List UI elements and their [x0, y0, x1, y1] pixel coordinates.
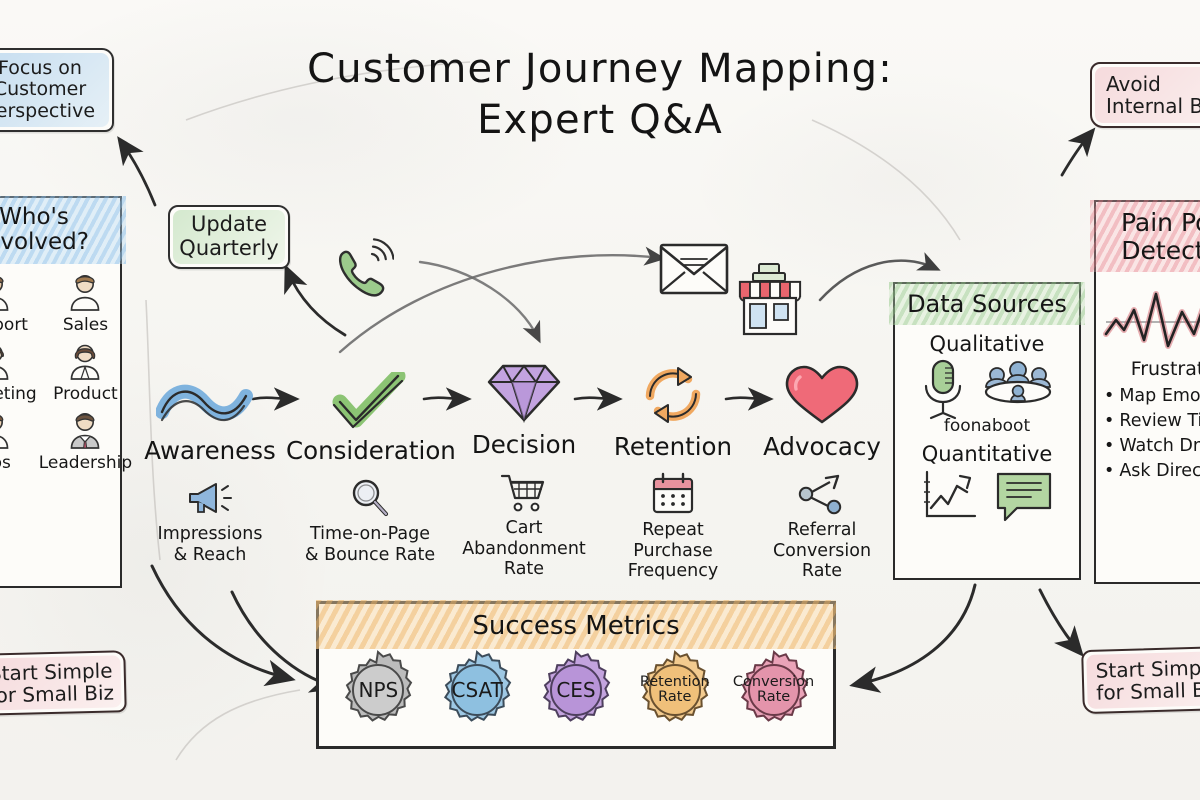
title-line-1: Customer Journey Mapping: — [0, 46, 1200, 93]
note-focus-line-2: Customer — [0, 79, 86, 100]
role-label: Leadership — [39, 453, 132, 473]
person-support-icon — [0, 270, 16, 314]
megaphone-icon — [126, 475, 294, 521]
cart-icon — [440, 469, 608, 515]
success-metrics-title-text: Success Metrics — [472, 611, 679, 641]
journey-stage-decision[interactable]: Decision Cart Abandonment Rate — [440, 362, 608, 580]
note-update-line-1: Update — [191, 213, 267, 237]
pain-point-bullet: Ask Directly — [1104, 459, 1200, 484]
stage-metric: Referral Conversion Rate — [738, 520, 906, 582]
journey-stage-advocacy[interactable]: Advocacy Referral Conversion Rate — [738, 364, 906, 582]
whos-involved-role-grid: Support Sales — [0, 264, 120, 477]
pain-point-bullet-list: Map Emotions Review Tickets Watch Drop-o… — [1096, 384, 1200, 483]
role-item[interactable]: Product — [39, 339, 132, 404]
role-label: Support — [0, 315, 28, 335]
note-update-quarterly[interactable]: Update Quarterly — [168, 205, 290, 269]
frustration-caption: Frustration — [1096, 358, 1200, 380]
role-item[interactable]: Ops — [0, 408, 37, 473]
stage-name: Consideration — [286, 436, 454, 465]
note-start-left-line-2: for Small Biz — [0, 681, 114, 706]
note-avoid-line-2: Internal Bias — [1106, 95, 1200, 117]
stage-metric: Repeat Purchase Frequency — [589, 520, 757, 582]
chat-bubble-icon — [993, 468, 1055, 524]
note-avoid-line-1: Avoid — [1106, 73, 1161, 95]
metric-badge-nps[interactable]: NPS — [337, 649, 419, 731]
data-sources-qualitative-icons — [895, 358, 1079, 420]
pain-point-title: Pain Point Detection — [1096, 202, 1200, 272]
person-product-icon — [63, 339, 107, 383]
whos-involved-title-line-2: Involved? — [0, 230, 116, 255]
journey-stage-awareness[interactable]: Awareness Impressions & Reach — [126, 368, 294, 565]
panel-data-sources[interactable]: Data Sources Qualitative — [893, 282, 1081, 580]
whos-involved-title-line-1: Who's — [0, 205, 116, 230]
note-start-simple-right[interactable]: Start Simple for Small Biz — [1081, 646, 1200, 714]
metric-badge-retention-rate[interactable]: Retention Rate — [634, 649, 716, 731]
calendar-icon — [589, 471, 757, 517]
stage-name: Advocacy — [738, 432, 906, 461]
metric-badge-label: CSAT — [451, 680, 502, 700]
role-label: Ops — [0, 453, 11, 473]
role-item[interactable]: Leadership — [39, 408, 132, 473]
touchpoint-storefront-icon — [732, 262, 808, 338]
stage-metric: Cart Abandonment Rate — [440, 518, 608, 580]
note-start-right-line-2: for Small Biz — [1096, 678, 1200, 704]
note-focus-line-1: Focus on — [0, 58, 82, 79]
role-item[interactable]: Support — [0, 270, 37, 335]
note-focus-line-3: Perspective — [0, 101, 95, 122]
note-focus-on-customer-perspective[interactable]: Focus on Customer Perspective — [0, 48, 114, 132]
success-metrics-badge-row: NPS CSAT CES — [319, 647, 833, 731]
stage-name: Retention — [589, 432, 757, 461]
role-item[interactable]: Marketing — [0, 339, 37, 404]
refresh-icon — [589, 364, 757, 426]
data-sources-title: Data Sources — [895, 284, 1079, 325]
whiteboard-canvas: Customer Journey Mapping: Expert Q&A Foc… — [0, 0, 1200, 800]
person-sales-icon — [63, 270, 107, 314]
share-icon — [738, 471, 906, 517]
stage-metric: Time-on-Page & Bounce Rate — [286, 524, 454, 565]
magnifier-icon — [286, 475, 454, 521]
person-marketing-icon — [0, 339, 16, 383]
journey-stage-retention[interactable]: Retention Repeat Purchase Frequency — [589, 364, 757, 582]
note-start-simple-left[interactable]: Start Simple for Small Biz — [0, 650, 127, 716]
person-leadership-icon — [63, 408, 107, 452]
metric-badge-csat[interactable]: CSAT — [436, 649, 518, 731]
pain-point-title-line-1: Pain Point — [1100, 209, 1200, 237]
metric-badge-label: Conversion Rate — [733, 675, 814, 705]
metric-badge-label: CES — [556, 680, 595, 700]
note-avoid-internal-bias[interactable]: Avoid Internal Bias — [1090, 62, 1200, 128]
stage-metric: Impressions & Reach — [126, 524, 294, 565]
page-title: Customer Journey Mapping: Expert Q&A — [0, 46, 1200, 144]
pain-point-bullet: Watch Drop-offs — [1104, 434, 1200, 459]
line-chart-icon — [919, 468, 979, 524]
data-sources-qualitative-label: Qualitative — [895, 332, 1079, 356]
heart-icon — [738, 364, 906, 426]
person-ops-icon — [0, 408, 16, 452]
role-label: Product — [53, 384, 118, 404]
whos-involved-title: Who's Involved? — [0, 198, 120, 264]
title-line-2: Expert Q&A — [0, 97, 1200, 144]
pain-point-bullet: Review Tickets — [1104, 409, 1200, 434]
metric-badge-conversion-rate[interactable]: Conversion Rate — [733, 649, 815, 731]
metric-badge-ces[interactable]: CES — [535, 649, 617, 731]
data-sources-title-text: Data Sources — [907, 290, 1067, 318]
stage-name: Awareness — [126, 436, 294, 465]
metric-badge-label: NPS — [359, 680, 399, 700]
role-item[interactable]: Sales — [39, 270, 132, 335]
touchpoint-envelope-icon — [658, 240, 730, 298]
pain-point-title-line-2: Detection — [1100, 237, 1200, 265]
note-update-line-2: Quarterly — [179, 237, 278, 261]
data-sources-quantitative-label: Quantitative — [895, 442, 1079, 466]
wave-icon — [126, 368, 294, 430]
role-label: Sales — [63, 315, 108, 335]
stage-name: Decision — [440, 430, 608, 459]
panel-success-metrics[interactable]: Success Metrics NPS CSAT — [316, 601, 836, 749]
focus-group-icon — [979, 360, 1057, 418]
journey-stage-consideration[interactable]: Consideration Time-on-Page & Bounce Rate — [286, 368, 454, 565]
data-sources-quantitative-icons — [895, 468, 1079, 524]
touchpoint-phone-icon — [322, 236, 394, 308]
checkmark-icon — [286, 368, 454, 430]
success-metrics-title: Success Metrics — [319, 604, 833, 647]
metric-badge-label: Retention Rate — [640, 675, 710, 705]
microphone-icon — [917, 358, 969, 420]
role-label: Marketing — [0, 384, 37, 404]
diamond-icon — [440, 362, 608, 424]
panel-pain-point-detection[interactable]: Pain Point Detection Frustration Map Emo… — [1094, 200, 1200, 584]
pain-point-bullet: Map Emotions — [1104, 384, 1200, 409]
frustration-graph-icon — [1096, 272, 1200, 356]
panel-whos-involved[interactable]: Who's Involved? Support — [0, 196, 122, 588]
